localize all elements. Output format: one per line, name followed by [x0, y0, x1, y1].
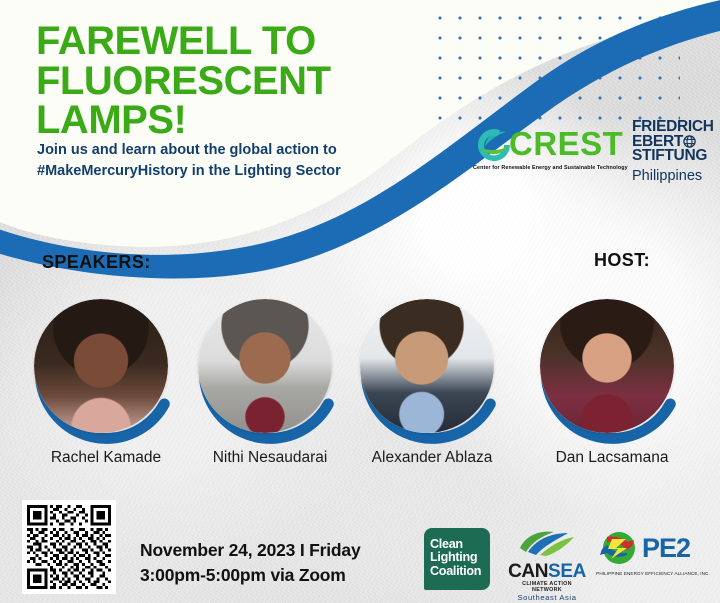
subtitle-line-1: Join us and learn about the global actio… — [37, 140, 397, 161]
event-date: November 24, 2023 I Friday — [140, 538, 360, 563]
crest-logo-tagline: Center for Renewable Energy and Sustaina… — [473, 165, 623, 171]
pe2-logo-icon — [594, 528, 640, 568]
avatar — [360, 299, 494, 433]
fes-logo-line-3: STIFTUNG — [632, 149, 716, 164]
person-name: Dan Lacsamana — [536, 449, 688, 467]
subtitle: Join us and learn about the global actio… — [37, 140, 397, 182]
person-name: Rachel Kamade — [30, 449, 182, 467]
portrait-photo — [34, 299, 168, 433]
avatar — [34, 299, 168, 433]
portrait-photo — [540, 299, 674, 433]
pe2-logo-subtitle: PHILIPPINE ENERGY EFFICIENCY ALLIANCE, I… — [594, 571, 712, 576]
qr-code[interactable] — [22, 500, 116, 594]
cansea-logo-icon — [516, 528, 578, 556]
speakers-label: SPEAKERS: — [42, 252, 151, 273]
person-name: Alexander Ablaza — [356, 449, 508, 467]
cansea-word-sea: SEA — [548, 561, 586, 582]
clean-lighting-coalition-logo: Clean Lighting Coalition — [424, 528, 490, 590]
crest-logo-wordmark: CREST — [509, 124, 623, 164]
fes-logo-country: Philippines — [632, 168, 716, 184]
cansea-word-can: CAN — [508, 561, 548, 582]
page-title: FAREWELL TO FLUORESCENT LAMPS! — [36, 22, 386, 141]
cansea-logo-subtitle-2: Southeast Asia — [508, 593, 586, 602]
person-name: Nithi Nesaudarai — [194, 449, 346, 467]
pe2-logo: PE2 PHILIPPINE ENERGY EFFICIENCY ALLIANC… — [594, 528, 712, 576]
fes-logo: FRIEDRICH EBERT STIFTUNG Philippines — [632, 120, 716, 184]
avatar — [540, 299, 674, 433]
avatar — [198, 299, 332, 433]
pe2-logo-wordmark: PE2 — [642, 535, 690, 562]
clc-logo-line-3: Coalition — [424, 565, 490, 578]
event-details: November 24, 2023 I Friday 3:00pm-5:00pm… — [140, 538, 360, 589]
clc-logo-line-1: Clean — [424, 528, 490, 551]
portrait-photo — [198, 299, 332, 433]
qr-code-image — [27, 505, 111, 589]
event-time: 3:00pm-5:00pm via Zoom — [140, 563, 360, 588]
cansea-logo-subtitle-1: CLIMATE ACTION NETWORK — [508, 581, 586, 593]
subtitle-line-2: #MakeMercuryHistory in the Lighting Sect… — [37, 161, 397, 182]
cansea-logo-wordmark: CANSEA — [508, 562, 586, 581]
host-label: HOST: — [594, 250, 650, 271]
crest-logo: CREST Center for Renewable Energy and Su… — [473, 122, 623, 180]
cansea-logo: CANSEA CLIMATE ACTION NETWORK Southeast … — [508, 528, 586, 602]
portrait-photo — [360, 299, 494, 433]
event-poster: FAREWELL TO FLUORESCENT LAMPS! Join us a… — [0, 0, 720, 603]
clc-logo-line-2: Lighting — [424, 551, 490, 564]
